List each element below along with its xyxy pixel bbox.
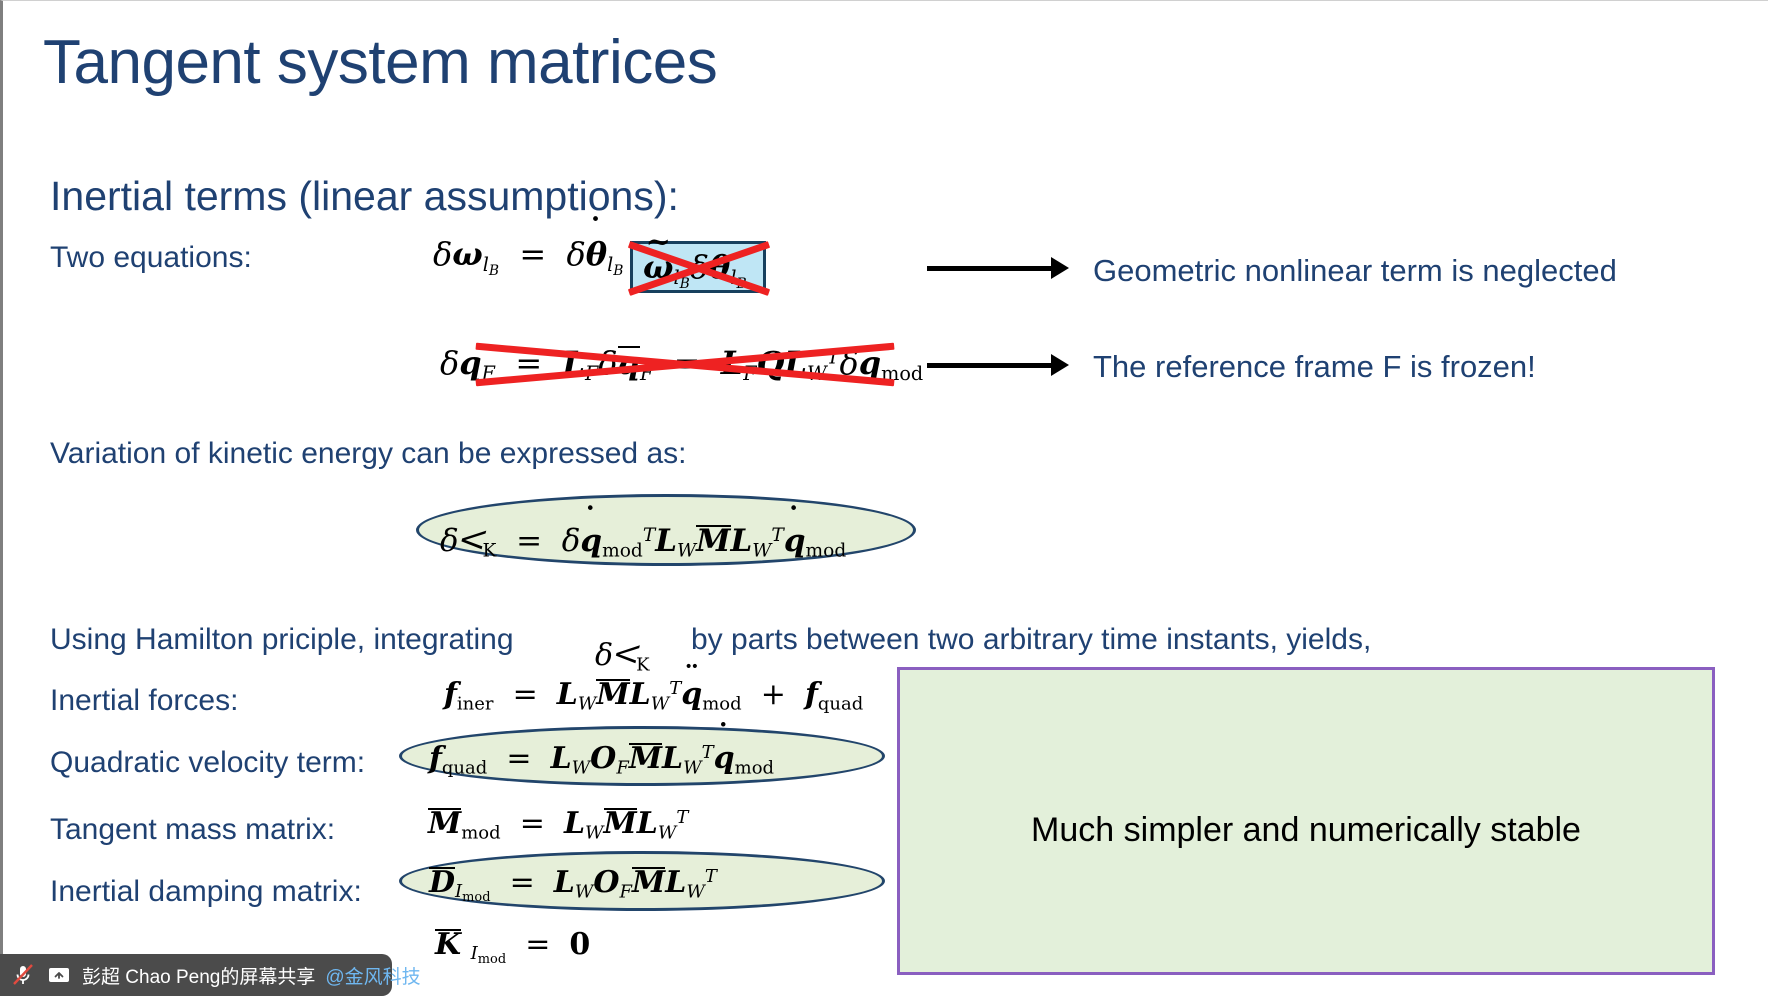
annotation-geometric-neglected: Geometric nonlinear term is neglected bbox=[1093, 253, 1617, 289]
share-owner-label: 彭超 Chao Peng的屏幕共享 bbox=[82, 962, 315, 989]
screen-share-bar[interactable]: 彭超 Chao Peng的屏幕共享 @金风科技 bbox=[0, 954, 392, 996]
arrow-2-head bbox=[1051, 354, 1069, 376]
callout-text: Much simpler and numerically stable bbox=[897, 811, 1715, 850]
equation-f-quad: fquad = LWOFMLWTqmod bbox=[429, 741, 774, 778]
arrow-2-line bbox=[927, 363, 1052, 368]
equation-M-mod: Mmod = LWMLWT bbox=[428, 806, 688, 843]
screen-share-icon[interactable] bbox=[46, 962, 72, 988]
share-company-tag: @金风科技 bbox=[325, 962, 420, 989]
equation-D-Imod: DImod = LWOFMLWT bbox=[429, 865, 717, 905]
inline-delta-W-K: δ𝈶K bbox=[595, 623, 650, 677]
label-quadratic-velocity-term: Quadratic velocity term: bbox=[50, 746, 365, 780]
slide-canvas: Tangent system matrices Inertial terms (… bbox=[0, 0, 1768, 996]
arrow-1-head bbox=[1051, 257, 1069, 279]
label-variation-kinetic-energy: Variation of kinetic energy can be expre… bbox=[50, 437, 686, 471]
label-inertial-forces: Inertial forces: bbox=[50, 684, 238, 718]
annotation-frame-frozen: The reference frame F is frozen! bbox=[1093, 349, 1536, 385]
equation-delta-W-K: δ𝈶K = δqmodTLWMLWTqmod bbox=[440, 509, 846, 564]
label-hamilton-prefix: Using Hamilton priciple, integrating bbox=[50, 623, 514, 657]
label-two-equations: Two equations: bbox=[50, 241, 252, 275]
arrow-1-line bbox=[927, 266, 1052, 271]
equation-f-iner: finer = LWMLWTqmod + fquad bbox=[444, 677, 863, 714]
equation-K-Imod: K Imod = 0 bbox=[435, 927, 590, 967]
label-inertial-damping-matrix: Inertial damping matrix: bbox=[50, 875, 362, 909]
label-hamilton-suffix: by parts between two arbitrary time inst… bbox=[691, 623, 1371, 657]
page-title: Tangent system matrices bbox=[43, 27, 717, 98]
microphone-muted-icon[interactable] bbox=[10, 962, 36, 988]
label-tangent-mass-matrix: Tangent mass matrix: bbox=[50, 813, 335, 847]
section-heading: Inertial terms (linear assumptions): bbox=[50, 173, 679, 220]
